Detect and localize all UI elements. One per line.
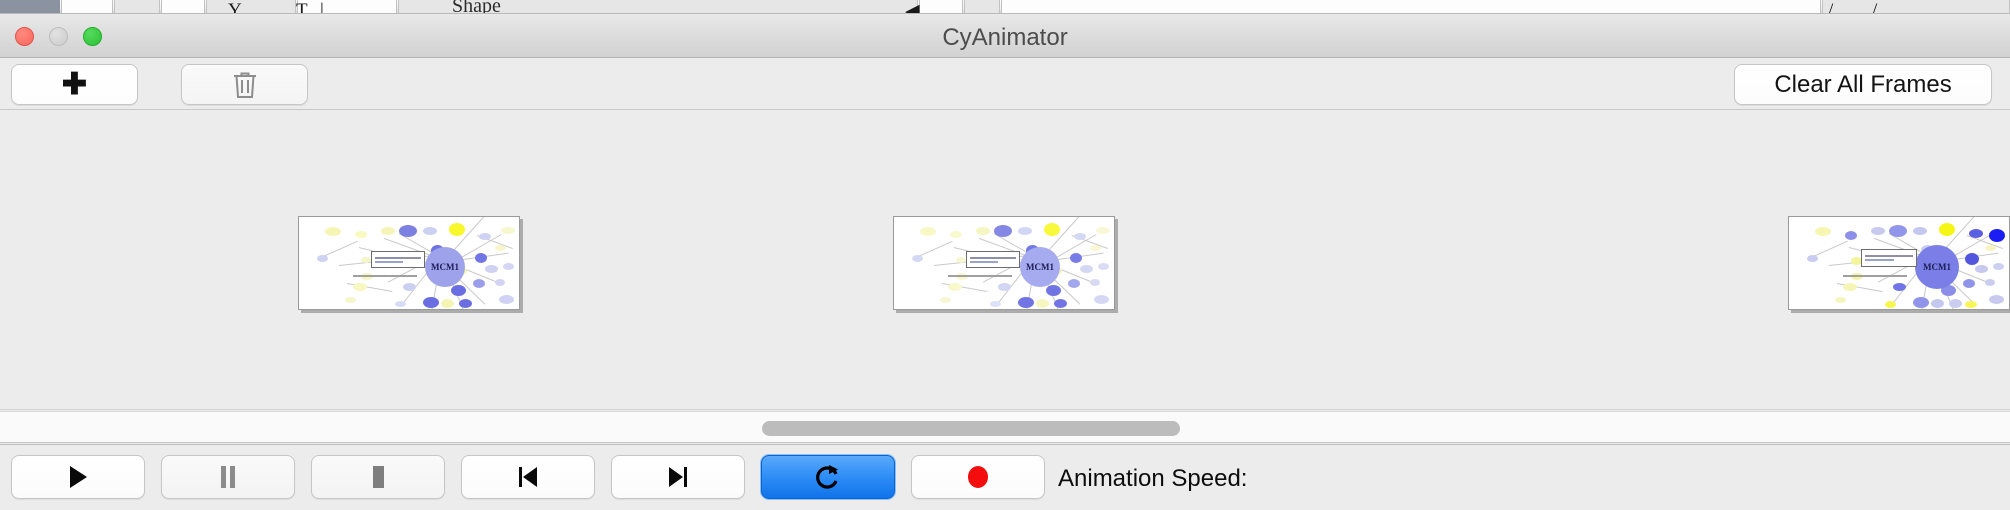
network-thumbnail: MCM1 — [299, 217, 519, 309]
record-button[interactable] — [911, 455, 1045, 499]
playback-bar: Animation Speed: — [0, 444, 2010, 510]
network-callout — [371, 251, 425, 268]
timeline-panel[interactable]: MCM1 — [0, 110, 2010, 410]
skip-back-icon — [515, 464, 541, 490]
skip-forward-icon — [665, 464, 691, 490]
bg-chip — [161, 0, 205, 13]
bg-chip — [114, 0, 160, 13]
add-frame-button[interactable]: ✚ — [11, 64, 138, 105]
background-window-strip: Y T | Shape ◀ / / — [0, 0, 2010, 14]
stop-icon — [367, 464, 389, 490]
network-thumbnail: MCM1 — [1789, 217, 2009, 309]
bg-chip — [206, 0, 296, 13]
bg-chip — [297, 0, 397, 13]
loop-button[interactable] — [761, 455, 895, 499]
network-callout — [1861, 249, 1917, 267]
loop-icon — [814, 462, 842, 492]
bg-chip — [1001, 0, 1821, 13]
animation-speed-label: Animation Speed: — [1058, 465, 1247, 493]
pause-button[interactable] — [161, 455, 295, 499]
timeline-frame-thumbnail[interactable]: MCM1 — [298, 216, 520, 310]
skip-to-end-button[interactable] — [611, 455, 745, 499]
play-button[interactable] — [11, 455, 145, 499]
bg-chip — [919, 0, 963, 13]
timeline-frame-thumbnail[interactable]: MCM1 — [1788, 216, 2010, 310]
pause-icon — [217, 464, 239, 490]
bg-chip — [964, 0, 1000, 13]
stop-button[interactable] — [311, 455, 445, 499]
play-icon — [67, 464, 89, 490]
scrollbar-thumb[interactable] — [762, 421, 1180, 436]
bg-chip — [61, 0, 113, 13]
trash-icon — [232, 70, 258, 100]
timeline-frame-thumbnail[interactable]: MCM1 — [893, 216, 1115, 310]
frame-toolbar: ✚ Clear All Frames — [0, 58, 2010, 110]
skip-to-start-button[interactable] — [461, 455, 595, 499]
bg-chip — [1822, 0, 2010, 13]
delete-frame-button[interactable] — [181, 64, 308, 105]
bg-chip — [0, 0, 60, 13]
record-icon — [965, 464, 991, 490]
clear-all-frames-button[interactable]: Clear All Frames — [1734, 64, 1992, 105]
network-thumbnail: MCM1 — [894, 217, 1114, 309]
network-callout — [966, 251, 1020, 268]
network-hub-node: MCM1 — [425, 247, 465, 287]
network-hub-node: MCM1 — [1915, 245, 1959, 289]
title-bar: CyAnimator — [0, 14, 2010, 58]
plus-icon: ✚ — [62, 70, 87, 100]
timeline-scrollbar[interactable] — [0, 411, 2010, 443]
network-hub-node: MCM1 — [1020, 247, 1060, 287]
clear-all-frames-label: Clear All Frames — [1774, 71, 1951, 99]
background-window-label: Shape — [452, 0, 501, 14]
window-title: CyAnimator — [0, 24, 2010, 52]
cyanimator-window: Y T | Shape ◀ / / CyAnimator ✚ — [0, 0, 2010, 510]
